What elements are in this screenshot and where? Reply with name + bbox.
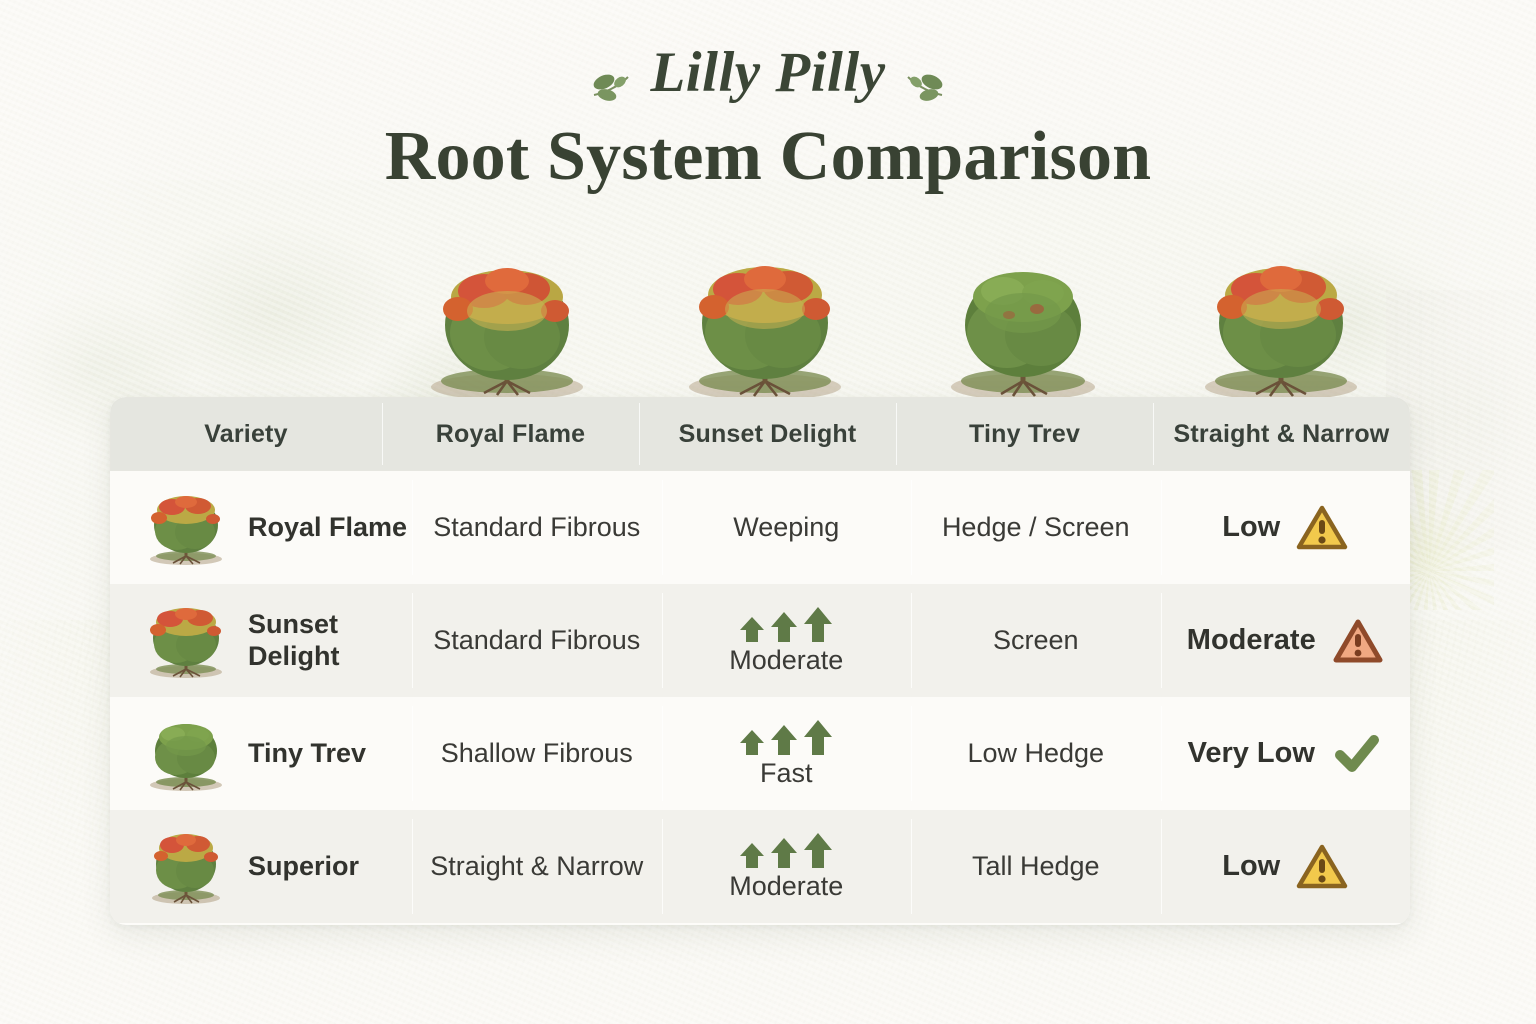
row-growth-cell: Moderate	[662, 584, 912, 697]
row-variety-label: Superior	[248, 851, 359, 882]
warning-triangle-yellow-icon	[1296, 502, 1348, 554]
sunset-delight-thumb	[140, 602, 232, 680]
row-growth-cell: Fast	[662, 697, 912, 810]
table-row[interactable]: Royal Flame Standard Fibrous Weeping Hed…	[110, 471, 1410, 584]
growth-arrows-icon	[739, 831, 833, 869]
row-variety-cell: Royal Flame	[110, 471, 412, 584]
row-root-type-cell: Straight & Narrow	[412, 810, 662, 923]
risk-level-label: Low	[1222, 849, 1280, 883]
row-risk-cell: Very Low	[1161, 697, 1411, 810]
tree-cell-sunset-delight	[636, 258, 894, 408]
title-kicker-text: Lilly Pilly	[650, 44, 885, 101]
row-variety-label: Royal Flame	[248, 512, 407, 543]
growth-arrows-icon	[739, 718, 833, 756]
row-variety-cell: Sunset Delight	[110, 584, 412, 697]
sunset-delight-tree	[680, 253, 850, 408]
tree-cell-royal-flame	[378, 258, 636, 408]
comparison-table-card: Variety Royal Flame Sunset Delight Tiny …	[110, 397, 1410, 925]
leaf-sprig-icon	[588, 56, 632, 90]
warning-triangle-orange-icon	[1332, 615, 1384, 667]
row-root-type-cell: Standard Fibrous	[412, 471, 662, 584]
growth-rate-label: Moderate	[729, 645, 843, 677]
row-use-cell: Low Hedge	[911, 697, 1161, 810]
table-row[interactable]: Tiny Trev Shallow Fibrous Fast Low Hedge…	[110, 697, 1410, 810]
risk-level-label: Very Low	[1188, 736, 1315, 770]
row-use-cell: Tall Hedge	[911, 810, 1161, 923]
risk-level-label: Low	[1222, 510, 1280, 544]
table-row[interactable]: Superior Straight & Narrow Moderate Tall…	[110, 810, 1410, 923]
row-root-type-cell: Standard Fibrous	[412, 584, 662, 697]
royal-flame-tree	[422, 253, 592, 408]
row-risk-cell: Moderate	[1161, 584, 1411, 697]
column-header-royal-flame: Royal Flame	[382, 397, 639, 471]
page-title: Root System Comparison	[0, 120, 1536, 194]
superior-thumb	[140, 828, 232, 906]
column-header-variety: Variety	[110, 397, 382, 471]
row-root-type-cell: Shallow Fibrous	[412, 697, 662, 810]
growth-rate-label: Weeping	[733, 512, 839, 544]
growth-rate-label: Moderate	[729, 871, 843, 903]
row-growth-cell: Moderate	[662, 810, 912, 923]
row-risk-cell: Low	[1161, 471, 1411, 584]
column-header-sunset-delight: Sunset Delight	[639, 397, 896, 471]
column-header-straight-narrow: Straight & Narrow	[1153, 397, 1410, 471]
row-variety-cell: Superior	[110, 810, 412, 923]
row-variety-label: Sunset Delight	[248, 609, 412, 671]
row-variety-label: Tiny Trev	[248, 738, 366, 769]
page-title-block: Lilly Pilly Root System Comparison	[0, 44, 1536, 193]
row-use-cell: Screen	[911, 584, 1161, 697]
header-tree-illustrations	[378, 258, 1410, 408]
tiny-trev-tree	[943, 253, 1103, 408]
tree-cell-straight-narrow	[1152, 258, 1410, 408]
royal-flame-thumb	[140, 489, 232, 567]
check-mark-green-icon	[1331, 728, 1383, 780]
growth-rate-label: Fast	[760, 758, 813, 790]
tiny-trev-thumb	[140, 715, 232, 793]
title-kicker-row: Lilly Pilly	[588, 44, 947, 101]
tree-cell-tiny-trev	[894, 258, 1152, 408]
row-growth-cell: Weeping	[662, 471, 912, 584]
row-use-cell: Hedge / Screen	[911, 471, 1161, 584]
growth-arrows-icon	[739, 605, 833, 643]
warning-triangle-yellow-icon	[1296, 841, 1348, 893]
row-variety-cell: Tiny Trev	[110, 697, 412, 810]
row-risk-cell: Low	[1161, 810, 1411, 923]
straight-narrow-tree	[1196, 253, 1366, 408]
table-header-row: Variety Royal Flame Sunset Delight Tiny …	[110, 397, 1410, 471]
risk-level-label: Moderate	[1187, 623, 1316, 657]
leaf-sprig-icon	[904, 56, 948, 90]
table-row[interactable]: Sunset Delight Standard Fibrous Moderate…	[110, 584, 1410, 697]
column-header-tiny-trev: Tiny Trev	[896, 397, 1153, 471]
